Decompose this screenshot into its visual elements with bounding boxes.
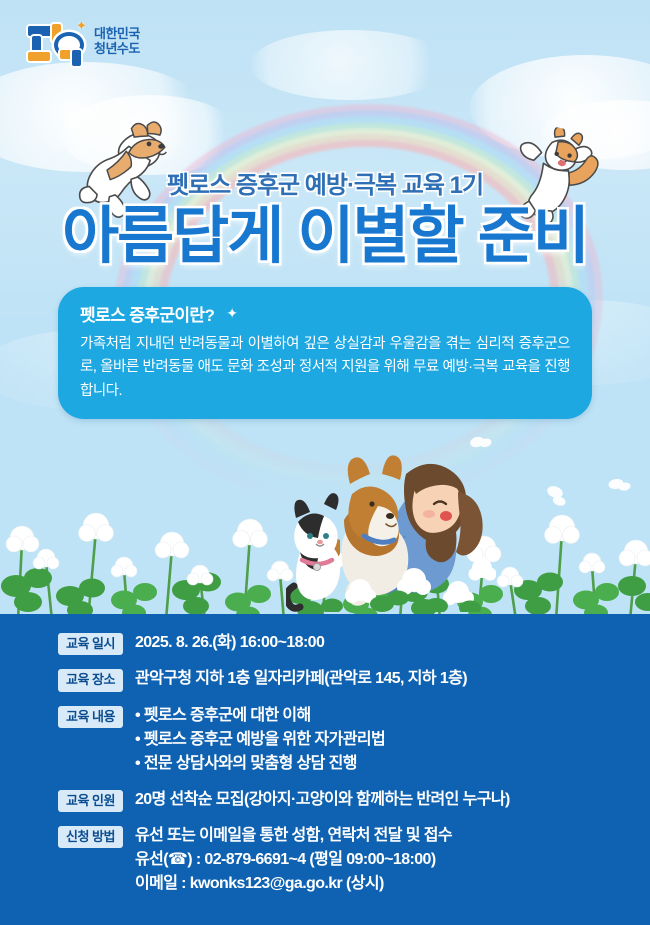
detail-line: 유선 또는 이메일을 통한 성함, 연락처 전달 및 접수 — [135, 824, 452, 848]
logo-tagline-line2: 청년수도 — [94, 41, 140, 56]
logo-tagline-line1: 대한민국 — [94, 26, 140, 41]
detail-line-email[interactable]: 이메일 : kwonks123@ga.go.kr (상시) — [135, 872, 452, 896]
detail-label-apply: 신청 방법 — [58, 826, 123, 848]
detail-bullet: 전문 상담사와의 맞춤형 상담 진행 — [135, 752, 385, 776]
poster: ✦ 대한민국 청년수도 — [0, 0, 650, 925]
detail-row-place: 교육 장소 관악구청 지하 1층 일자리카페(관악로 145, 지하 1층) — [58, 666, 618, 691]
detail-line: 2025. 8. 26.(화) 16:00~18:00 — [135, 631, 324, 655]
gwanak-brand-logo: ✦ 대한민국 청년수도 — [24, 18, 140, 66]
detail-line-phone[interactable]: 유선(☎) : 02-879-6691~4 (평일 09:00~18:00) — [135, 848, 452, 872]
info-box-title-row: 펫로스 증후군이란? ✦ — [80, 301, 570, 326]
info-box-title: 펫로스 증후군이란? — [80, 301, 214, 326]
details-panel: 교육 일시 2025. 8. 26.(화) 16:00~18:00 교육 장소 … — [0, 614, 650, 925]
logo-tagline: 대한민국 청년수도 — [94, 27, 140, 57]
detail-line: 관악구청 지하 1층 일자리카페(관악로 145, 지하 1층) — [135, 667, 467, 691]
cloud — [250, 30, 450, 100]
details-list: 교육 일시 2025. 8. 26.(화) 16:00~18:00 교육 장소 … — [58, 630, 618, 907]
detail-line: 20명 선착순 모집(강아지·고양이와 함께하는 반려인 누구나) — [135, 788, 510, 812]
detail-bullet: 펫로스 증후군에 대한 이해 — [135, 704, 385, 728]
detail-value-date: 2025. 8. 26.(화) 16:00~18:00 — [135, 630, 324, 655]
poster-subtitle: 펫로스 증후군 예방·극복 교육 1기 — [0, 165, 650, 200]
detail-row-capacity: 교육 인원 20명 선착순 모집(강아지·고양이와 함께하는 반려인 누구나) — [58, 787, 618, 812]
detail-value-apply: 유선 또는 이메일을 통한 성함, 연락처 전달 및 접수 유선(☎) : 02… — [135, 823, 452, 896]
detail-label-content: 교육 내용 — [58, 706, 123, 728]
detail-row-date: 교육 일시 2025. 8. 26.(화) 16:00~18:00 — [58, 630, 618, 655]
definition-info-box: 펫로스 증후군이란? ✦ 가족처럼 지내던 반려동물과 이별하여 깊은 상실감과… — [58, 287, 592, 419]
detail-label-place: 교육 장소 — [58, 669, 123, 691]
girl-with-pets-illustration — [286, 440, 496, 612]
sparkle-icon: ✦ — [76, 19, 87, 32]
gwanak-logo-mark-icon: ✦ — [24, 18, 86, 66]
star-icon: ✦ — [226, 305, 237, 322]
detail-label-date: 교육 일시 — [58, 633, 123, 655]
detail-value-place: 관악구청 지하 1층 일자리카페(관악로 145, 지하 1층) — [135, 666, 467, 691]
info-box-body: 가족처럼 지내던 반려동물과 이별하여 깊은 상실감과 우울감을 겪는 심리적 … — [80, 333, 570, 403]
detail-bullet: 펫로스 증후군 예방을 위한 자가관리법 — [135, 728, 385, 752]
detail-value-content: 펫로스 증후군에 대한 이해 펫로스 증후군 예방을 위한 자가관리법 전문 상… — [135, 703, 385, 776]
detail-label-capacity: 교육 인원 — [58, 790, 123, 812]
detail-value-capacity: 20명 선착순 모집(강아지·고양이와 함께하는 반려인 누구나) — [135, 787, 510, 812]
detail-row-apply: 신청 방법 유선 또는 이메일을 통한 성함, 연락처 전달 및 접수 유선(☎… — [58, 823, 618, 896]
detail-row-content: 교육 내용 펫로스 증후군에 대한 이해 펫로스 증후군 예방을 위한 자가관리… — [58, 703, 618, 776]
poster-headline: 아름답게 이별할 준비 — [0, 204, 650, 269]
